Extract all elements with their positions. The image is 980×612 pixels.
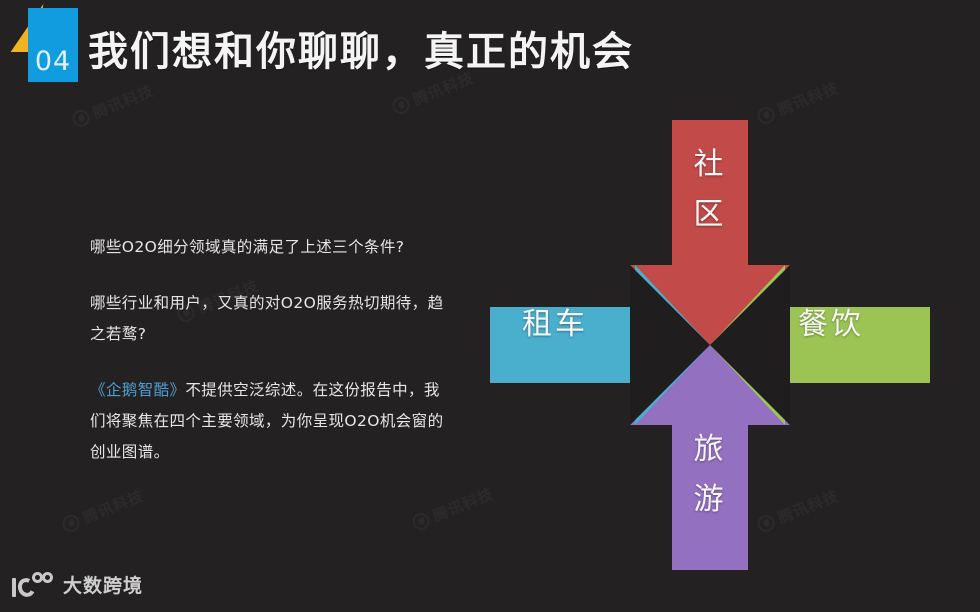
watermark-5: 腾讯科技 — [59, 485, 147, 537]
watermark-text: 腾讯科技 — [90, 80, 157, 123]
section-number-badge: 04 — [28, 8, 78, 82]
watermark-logo-icon — [410, 510, 432, 532]
slide-canvas: 腾讯科技腾讯科技腾讯科技腾讯科技腾讯科技腾讯科技腾讯科技腾讯科技 04 我们想和… — [0, 0, 980, 612]
watermark-logo-icon — [60, 512, 82, 534]
converging-arrows-diagram: 社区 租车 餐饮 旅游 — [460, 100, 960, 590]
section-number: 04 — [35, 48, 71, 75]
arrows-svg — [460, 100, 960, 590]
paragraph-closing: 《企鹅智酷》不提供空泛综述。在这份报告中，我们将聚焦在四个主要领域，为你呈现O2… — [90, 375, 450, 468]
watermark-0: 腾讯科技 — [69, 80, 157, 132]
page-title: 我们想和你聊聊，真正的机会 — [88, 32, 634, 72]
body-copy: 哪些O2O细分领域真的满足了上述三个条件? 哪些行业和用户，又真的对O2O服务热… — [90, 232, 450, 468]
infinity-logo-icon — [12, 572, 54, 598]
footer-brand-name: 大数跨境 — [63, 571, 143, 598]
brand-mention: 《企鹅智酷》 — [90, 381, 185, 399]
paragraph-question-1: 哪些O2O细分领域真的满足了上述三个条件? — [90, 232, 450, 263]
watermark-logo-icon — [390, 94, 412, 116]
watermark-text: 腾讯科技 — [80, 485, 147, 528]
footer-brand-logo: 大数跨境 — [12, 571, 143, 598]
watermark-logo-icon — [70, 107, 92, 129]
paragraph-question-2: 哪些行业和用户，又真的对O2O服务热切期待，趋之若鹜? — [90, 288, 450, 350]
